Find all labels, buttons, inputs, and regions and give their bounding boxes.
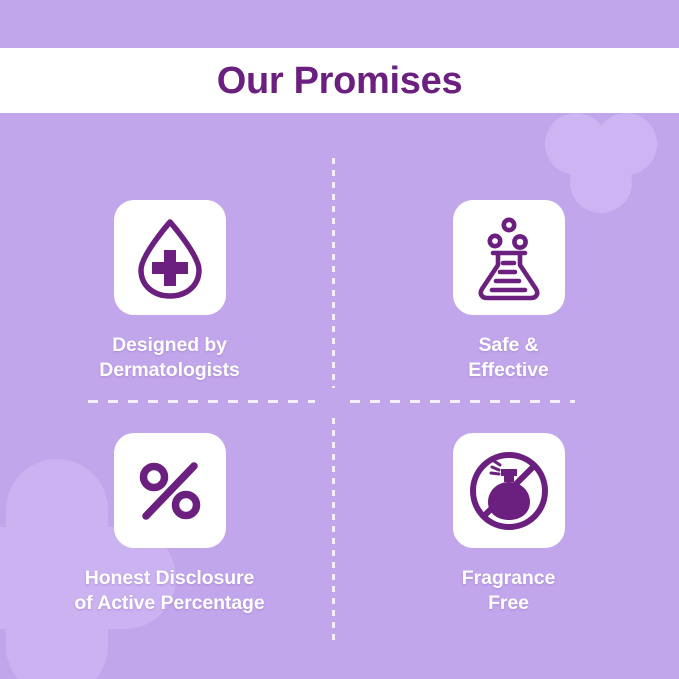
lab-flask-icon xyxy=(473,215,545,301)
page-title: Our Promises xyxy=(217,62,463,100)
no-perfume-icon xyxy=(468,450,550,532)
promise-label-line1: Honest Disclosure xyxy=(85,567,255,589)
promise-item-fragrance-free: Fragrance Free xyxy=(339,396,678,679)
promise-item-safe-and-effective: Safe & Effective xyxy=(339,113,678,396)
icon-card xyxy=(114,433,226,548)
icon-card xyxy=(453,200,565,315)
header-band: Our Promises xyxy=(0,48,679,113)
percent-icon xyxy=(139,462,201,520)
promises-grid: Designed by Dermatologists xyxy=(0,113,679,679)
promise-label-line2: of Active Percentage xyxy=(74,591,264,616)
promise-label-line2: Dermatologists xyxy=(99,358,240,383)
promises-banner: Our Promises Designed by Derma xyxy=(0,0,679,679)
icon-card-wrap xyxy=(453,200,565,315)
icon-card-wrap xyxy=(453,433,565,548)
icon-card xyxy=(453,433,565,548)
promise-label: Designed by Dermatologists xyxy=(99,333,240,383)
icon-card-wrap xyxy=(114,433,226,548)
promise-label-line2: Effective xyxy=(468,358,548,383)
water-drop-plus-icon xyxy=(133,217,207,299)
icon-card-wrap xyxy=(114,200,226,315)
promise-label: Honest Disclosure of Active Percentage xyxy=(74,566,264,616)
promise-label: Safe & Effective xyxy=(468,333,548,383)
promise-label-line1: Safe & xyxy=(478,334,538,356)
promise-label-line1: Designed by xyxy=(112,334,227,356)
promise-label-line2: Free xyxy=(462,591,555,616)
promise-label: Fragrance Free xyxy=(462,566,555,616)
promise-item-designed-by-dermatologists: Designed by Dermatologists xyxy=(0,113,339,396)
promise-item-honest-disclosure: Honest Disclosure of Active Percentage xyxy=(0,396,339,679)
icon-card xyxy=(114,200,226,315)
promise-label-line1: Fragrance xyxy=(462,567,555,589)
